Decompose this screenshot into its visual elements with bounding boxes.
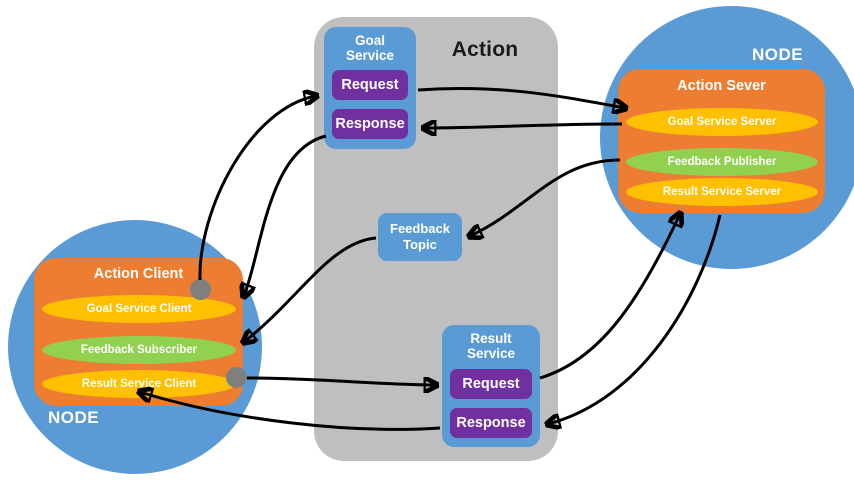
feedback-topic-line1: Feedback [390,221,450,237]
goal-service-request-button[interactable]: Request [332,70,408,100]
pill-result-service-client[interactable]: Result Service Client [42,370,236,398]
result-service-title-line2: Service [442,346,540,362]
feedback-topic-line2: Topic [403,237,437,253]
pill-goal-service-server[interactable]: Goal Service Server [626,108,818,136]
action-group-title: Action [425,38,545,62]
result-service-client-connector-dot [226,367,247,388]
node-left-label: NODE [48,408,99,428]
pill-goal-service-client[interactable]: Goal Service Client [42,295,236,323]
action-server-box: Action Sever Goal Service Server Feedbac… [618,69,825,213]
goal-service-title-line1: Goal [324,33,416,49]
result-service-request-button[interactable]: Request [450,369,532,399]
pill-feedback-publisher[interactable]: Feedback Publisher [626,148,818,176]
goal-service-box: Goal Service Request Response [324,27,416,149]
feedback-topic-box[interactable]: Feedback Topic [378,213,462,261]
action-server-title: Action Sever [618,78,825,94]
pill-result-service-server[interactable]: Result Service Server [626,178,818,206]
result-service-box: Result Service Request Response [442,325,540,447]
goal-service-response-button[interactable]: Response [332,109,408,139]
pill-feedback-subscriber[interactable]: Feedback Subscriber [42,336,236,364]
node-right-label: NODE [752,45,803,65]
diagram-canvas: Action Action Sever Goal Service Server … [0,0,854,480]
action-client-title: Action Client [34,266,243,282]
goal-service-title-line2: Service [324,48,416,64]
result-service-response-button[interactable]: Response [450,408,532,438]
goal-service-client-connector-dot [190,279,211,300]
action-client-box: Action Client Goal Service Client Feedba… [34,258,243,406]
result-service-title-line1: Result [442,331,540,347]
